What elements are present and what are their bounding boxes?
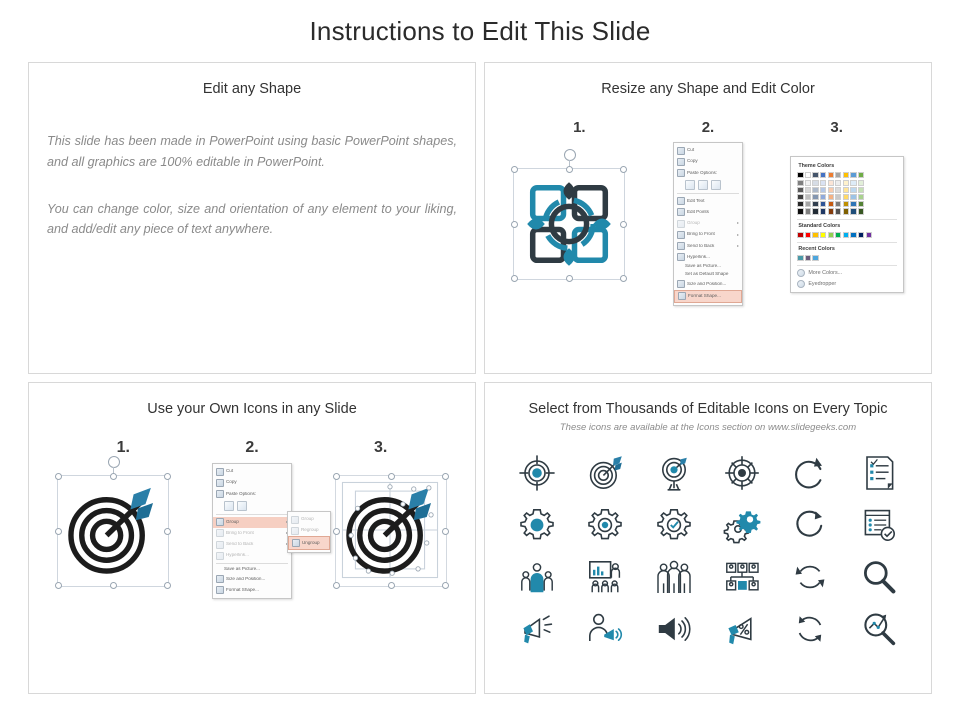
group-icon — [216, 518, 224, 526]
resize-figure-3: Theme Colors — [782, 142, 912, 306]
resize-handle-bottom-center[interactable] — [566, 275, 573, 282]
color-picker-divider — [797, 265, 897, 266]
theme-variant-swatch[interactable] — [828, 208, 834, 214]
theme-variant-swatch[interactable] — [835, 201, 841, 207]
paste-option-buttons[interactable] — [213, 500, 291, 513]
context-menu-label: Format Shape... — [688, 294, 738, 299]
icon-cell[interactable] — [640, 499, 708, 551]
edit-text-icon — [677, 197, 685, 205]
context-menu-label: Cut — [687, 148, 739, 153]
magnifier-icon — [859, 557, 899, 597]
paste-picture-icon[interactable] — [237, 501, 247, 511]
refresh-arrow-icon — [790, 453, 830, 493]
theme-swatch[interactable] — [828, 172, 834, 178]
icon-cell[interactable] — [571, 499, 639, 551]
target-stand-icon — [654, 453, 694, 493]
icon-cell[interactable] — [640, 603, 708, 655]
resize-handle-top-left[interactable] — [511, 166, 518, 173]
checklist-document-icon — [859, 453, 899, 493]
paste-merge-formatting-icon[interactable] — [698, 180, 708, 190]
theme-variant-swatch[interactable] — [850, 208, 856, 214]
shape-context-menu[interactable]: Cut Copy Paste Options: — [673, 142, 743, 306]
menu-divider — [216, 514, 288, 515]
theme-variant-column[interactable] — [843, 180, 849, 215]
size-position-icon — [216, 575, 224, 583]
resize-handle-bottom-left[interactable] — [511, 275, 518, 282]
panel-title-select-icons: Select from Thousands of Editable Icons … — [485, 383, 931, 417]
panel-own-icons: Use your Own Icons in any Slide 1. 2. 3. — [28, 382, 476, 694]
megaphone-percent-icon — [722, 609, 762, 649]
panel-resize-shape: Resize any Shape and Edit Color 1. 2. 3. — [484, 62, 932, 374]
theme-variant-swatch[interactable] — [820, 194, 826, 200]
context-menu-label: Size and Position... — [687, 282, 739, 287]
icon-cell[interactable] — [503, 551, 571, 603]
context-menu-item-set-default-shape[interactable]: Set as Default Shape — [674, 271, 742, 279]
icon-cell[interactable] — [503, 499, 571, 551]
group-menu-label: Hyperlink... — [226, 553, 288, 558]
group-menu-label: Group — [226, 520, 284, 525]
eyedropper-label: Eyedropper — [808, 281, 836, 287]
group-menu-item-format-shape[interactable]: Format Shape... — [213, 585, 291, 596]
page-title: Instructions to Edit This Slide — [0, 0, 960, 47]
magnifier-chart-icon — [859, 609, 899, 649]
size-position-icon — [677, 280, 685, 288]
standard-swatch[interactable] — [812, 232, 818, 238]
group-menu-label: Bring to Front — [226, 531, 284, 536]
theme-variant-swatch[interactable] — [858, 194, 864, 200]
group-submenu-label: Regroup — [301, 528, 327, 533]
icon-cell[interactable] — [708, 603, 776, 655]
resize-handle-bottom-center[interactable] — [388, 582, 395, 589]
theme-variant-swatch[interactable] — [835, 187, 841, 193]
icon-cell[interactable] — [571, 603, 639, 655]
scope-target-icon — [722, 453, 762, 493]
menu-divider — [216, 563, 288, 564]
icon-cell[interactable] — [708, 447, 776, 499]
shape-selection-frame[interactable] — [513, 168, 625, 280]
icon-cell[interactable] — [503, 603, 571, 655]
theme-variant-swatch[interactable] — [820, 180, 826, 186]
icon-cell[interactable] — [845, 499, 913, 551]
theme-variant-swatch[interactable] — [843, 180, 849, 186]
resize-step-numbers: 1. 2. 3. — [485, 119, 931, 136]
standard-swatch[interactable] — [828, 232, 834, 238]
theme-variant-swatch[interactable] — [812, 208, 818, 214]
theme-variant-swatch[interactable] — [843, 201, 849, 207]
speaker-icon — [654, 609, 694, 649]
paste-keep-formatting-icon[interactable] — [224, 501, 234, 511]
theme-swatch[interactable] — [797, 172, 803, 178]
context-menu-item-format-shape[interactable]: Format Shape... — [674, 290, 742, 303]
icon-cell[interactable] — [776, 499, 844, 551]
theme-variant-swatch[interactable] — [835, 208, 841, 214]
theme-variant-swatch[interactable] — [820, 187, 826, 193]
paste-icon — [216, 490, 224, 498]
icon-cell[interactable] — [571, 551, 639, 603]
resize-handle-top-right[interactable] — [620, 166, 627, 173]
icon-cell[interactable] — [571, 447, 639, 499]
resize-handle-middle-left[interactable] — [55, 528, 62, 535]
menu-divider — [677, 193, 739, 194]
icon-cell[interactable] — [776, 447, 844, 499]
org-chart-team-icon — [722, 557, 762, 597]
resize-handle-bottom-right[interactable] — [620, 275, 627, 282]
standard-swatch[interactable] — [858, 232, 864, 238]
person-megaphone-icon — [585, 609, 625, 649]
rotate-handle-icon[interactable] — [564, 149, 576, 161]
icon-cell[interactable] — [640, 551, 708, 603]
theme-variant-column[interactable] — [805, 180, 811, 215]
icon-cell[interactable] — [776, 551, 844, 603]
send-to-back-icon — [216, 541, 224, 549]
theme-variant-swatch[interactable] — [805, 201, 811, 207]
standard-swatch[interactable] — [835, 232, 841, 238]
team-three-icon — [654, 557, 694, 597]
standard-swatch[interactable] — [805, 232, 811, 238]
theme-variant-swatch[interactable] — [843, 187, 849, 193]
resize-handle-middle-right[interactable] — [164, 528, 171, 535]
theme-variant-swatch[interactable] — [850, 194, 856, 200]
panel-title-edit-shape: Edit any Shape — [29, 63, 475, 97]
own-icons-step-number-2: 2. — [202, 439, 302, 457]
double-gear-icon — [722, 505, 762, 545]
target-dart-icon — [58, 476, 166, 584]
resize-handle-middle-right[interactable] — [620, 221, 627, 228]
group-submenu-item-ungroup[interactable]: Ungroup — [288, 536, 330, 549]
standard-swatch[interactable] — [820, 232, 826, 238]
own-icons-step-numbers: 1. 2. 3. — [29, 439, 475, 457]
group-menu-item-save-as-picture[interactable]: Save as Picture... — [213, 565, 291, 573]
resize-handle-middle-right[interactable] — [442, 528, 449, 535]
theme-variant-swatch[interactable] — [828, 194, 834, 200]
cut-icon — [216, 468, 224, 476]
standard-colors-row[interactable] — [797, 232, 897, 238]
group-menu-label: Save as Picture... — [224, 567, 288, 572]
context-menu-label: Group — [687, 221, 735, 226]
theme-variant-swatch[interactable] — [858, 187, 864, 193]
theme-variant-swatch[interactable] — [858, 208, 864, 214]
icon-cell[interactable] — [503, 447, 571, 499]
rotate-handle-icon[interactable] — [108, 456, 120, 468]
eyedropper-button[interactable]: Eyedropper — [797, 280, 897, 288]
group-submenu[interactable]: Group Regroup Ungroup — [287, 511, 331, 553]
chevron-right-icon: ▸ — [737, 244, 739, 248]
theme-swatch[interactable] — [858, 172, 864, 178]
theme-variant-swatch[interactable] — [812, 194, 818, 200]
group-menu-item-cut[interactable]: Cut — [213, 466, 291, 477]
theme-variant-swatch[interactable] — [805, 187, 811, 193]
context-menu-label: Bring to Front — [687, 232, 735, 237]
group-icon — [291, 516, 299, 524]
group-menu-item-bring-to-front: Bring to Front ▸ — [213, 528, 291, 539]
resize-handle-bottom-center[interactable] — [110, 582, 117, 589]
context-menu-item-send-to-back[interactable]: Send to Back ▸ — [674, 240, 742, 251]
resize-figure-2: Cut Copy Paste Options: — [643, 142, 773, 306]
standard-swatch[interactable] — [843, 232, 849, 238]
recent-colors-row[interactable] — [797, 255, 897, 261]
theme-variant-swatch[interactable] — [797, 201, 803, 207]
theme-variant-column[interactable] — [797, 180, 803, 215]
group-menu-label: Paste Options: — [226, 492, 288, 497]
color-picker-panel[interactable]: Theme Colors — [790, 156, 904, 293]
more-colors-label: More Colors... — [808, 270, 842, 276]
theme-variant-swatch[interactable] — [828, 187, 834, 193]
theme-colors-label: Theme Colors — [798, 163, 897, 169]
theme-variant-column[interactable] — [828, 180, 834, 215]
theme-variant-swatch[interactable] — [805, 194, 811, 200]
hyperlink-icon — [677, 253, 685, 261]
group-menu-item-size-and-position[interactable]: Size and Position... — [213, 573, 291, 584]
copy-icon — [216, 479, 224, 487]
theme-variant-column[interactable] — [835, 180, 841, 215]
context-menu-label: Edit Points — [687, 210, 739, 215]
ungroup-icon — [292, 539, 300, 547]
theme-swatch[interactable] — [850, 172, 856, 178]
context-menu-item-paste-options: Paste Options: — [674, 167, 742, 178]
theme-variant-swatch[interactable] — [797, 187, 803, 193]
panel-grid: Edit any Shape This slide has been made … — [28, 62, 932, 692]
theme-variant-swatch[interactable] — [828, 201, 834, 207]
group-menu-label: Cut — [226, 469, 288, 474]
recent-swatch[interactable] — [812, 255, 818, 261]
theme-variant-swatch[interactable] — [850, 201, 856, 207]
theme-swatch[interactable] — [812, 172, 818, 178]
context-menu-item-cut[interactable]: Cut — [674, 145, 742, 156]
send-to-back-icon — [677, 242, 685, 250]
resize-handle-bottom-left[interactable] — [333, 582, 340, 589]
format-shape-icon — [216, 586, 224, 594]
copy-icon — [677, 158, 685, 166]
panel-title-resize-shape: Resize any Shape and Edit Color — [485, 63, 931, 97]
theme-colors-base-row[interactable] — [797, 172, 897, 178]
group-icon — [677, 220, 685, 228]
theme-variant-swatch[interactable] — [858, 180, 864, 186]
context-menu-item-save-as-picture[interactable]: Save as Picture... — [674, 263, 742, 271]
resize-handle-top-right[interactable] — [164, 473, 171, 480]
icon-cell[interactable] — [845, 551, 913, 603]
hyperlink-icon — [216, 552, 224, 560]
resize-handle-top-left[interactable] — [55, 473, 62, 480]
resize-figure-1 — [504, 142, 634, 306]
theme-variant-swatch[interactable] — [797, 180, 803, 186]
own-icons-step-number-1: 1. — [73, 439, 173, 457]
resize-handle-top-right[interactable] — [442, 473, 449, 480]
recent-swatch[interactable] — [805, 255, 811, 261]
resize-handle-middle-left[interactable] — [511, 221, 518, 228]
edit-shape-text-block: This slide has been made in PowerPoint u… — [29, 97, 475, 240]
group-menu-label: Size and Position... — [226, 577, 288, 582]
target-dart-icon — [585, 453, 625, 493]
pinwheel-shape-icon — [514, 169, 624, 279]
theme-variant-column[interactable] — [858, 180, 864, 215]
context-menu-label: Set as Default Shape — [685, 272, 739, 277]
theme-variant-swatch[interactable] — [812, 201, 818, 207]
resize-handle-bottom-right[interactable] — [164, 582, 171, 589]
panel-select-icons: Select from Thousands of Editable Icons … — [484, 382, 932, 694]
theme-variant-swatch[interactable] — [843, 194, 849, 200]
icon-library-grid — [485, 433, 931, 665]
chevron-right-icon: ▸ — [737, 233, 739, 237]
bring-to-front-icon — [677, 231, 685, 239]
circular-arrow-icon — [790, 505, 830, 545]
theme-variant-swatch[interactable] — [835, 180, 841, 186]
group-menu-label: Format Shape... — [226, 588, 288, 593]
paste-icon — [677, 169, 685, 177]
theme-variant-swatch[interactable] — [820, 201, 826, 207]
group-submenu-item-regroup: Regroup — [288, 525, 330, 536]
theme-swatch[interactable] — [843, 172, 849, 178]
recent-swatch[interactable] — [797, 255, 803, 261]
theme-variant-swatch[interactable] — [805, 208, 811, 214]
context-menu-label: Edit Text — [687, 199, 739, 204]
theme-variant-column[interactable] — [850, 180, 856, 215]
standard-colors-label: Standard Colors — [798, 223, 897, 229]
context-menu-item-edit-points[interactable]: Edit Points — [674, 207, 742, 218]
theme-colors-variant-grid[interactable] — [797, 180, 897, 215]
chevron-right-icon: ▸ — [737, 221, 739, 225]
format-shape-icon — [678, 292, 686, 300]
own-icons-step-figures: Cut Copy Paste Options: — [29, 463, 475, 599]
resize-step-number-3: 3. — [787, 119, 887, 136]
gear-small-center-icon — [585, 505, 625, 545]
bring-to-front-icon — [216, 529, 224, 537]
more-colors-button[interactable]: More Colors... — [797, 269, 897, 277]
theme-variant-swatch[interactable] — [850, 180, 856, 186]
theme-variant-column[interactable] — [812, 180, 818, 215]
eyedropper-icon — [797, 280, 805, 288]
theme-variant-swatch[interactable] — [812, 180, 818, 186]
resize-handle-bottom-right[interactable] — [442, 582, 449, 589]
context-menu-label: Copy — [687, 159, 739, 164]
resize-step-number-2: 2. — [658, 119, 758, 136]
group-menu-item-paste-options: Paste Options: — [213, 488, 291, 499]
icon-cell[interactable] — [708, 499, 776, 551]
theme-swatch[interactable] — [805, 172, 811, 178]
theme-variant-column[interactable] — [820, 180, 826, 215]
gear-filled-icon — [517, 505, 557, 545]
group-menu-label: Copy — [226, 480, 288, 485]
context-menu-item-bring-to-front[interactable]: Bring to Front ▸ — [674, 229, 742, 240]
own-icons-step-number-3: 3. — [331, 439, 431, 457]
theme-variant-swatch[interactable] — [843, 208, 849, 214]
paste-keep-formatting-icon[interactable] — [685, 180, 695, 190]
theme-variant-swatch[interactable] — [797, 194, 803, 200]
group-context-menu[interactable]: Cut Copy Paste Options: — [212, 463, 292, 599]
icon-cell[interactable] — [708, 551, 776, 603]
palette-icon — [797, 269, 805, 277]
theme-swatch[interactable] — [820, 172, 826, 178]
context-menu-item-hyperlink[interactable]: Hyperlink... — [674, 252, 742, 263]
panel-subtitle-select-icons: These icons are available at the Icons s… — [485, 417, 931, 433]
paste-picture-icon[interactable] — [711, 180, 721, 190]
group-menu-item-copy[interactable]: Copy — [213, 477, 291, 488]
theme-swatch[interactable] — [835, 172, 841, 178]
context-menu-label: Hyperlink... — [687, 255, 739, 260]
color-picker-divider — [797, 242, 897, 243]
theme-variant-swatch[interactable] — [820, 208, 826, 214]
icon-cell[interactable] — [845, 603, 913, 655]
context-menu-label: Save as Picture... — [685, 264, 739, 269]
theme-variant-swatch[interactable] — [858, 201, 864, 207]
group-submenu-item-group: Group — [288, 514, 330, 525]
edit-points-icon — [677, 208, 685, 216]
icon-cell[interactable] — [845, 447, 913, 499]
theme-variant-swatch[interactable] — [828, 180, 834, 186]
cut-icon — [677, 147, 685, 155]
group-submenu-label: Group — [301, 517, 327, 522]
standard-swatch[interactable] — [850, 232, 856, 238]
own-icons-figure-2: Cut Copy Paste Options: — [187, 463, 317, 599]
paste-option-buttons[interactable] — [674, 179, 742, 192]
megaphone-icon — [517, 609, 557, 649]
resize-handle-top-center[interactable] — [566, 166, 573, 173]
color-picker-divider — [797, 219, 897, 220]
context-menu-item-size-and-position[interactable]: Size and Position... — [674, 279, 742, 290]
theme-variant-swatch[interactable] — [850, 187, 856, 193]
context-menu-item-copy[interactable]: Copy — [674, 156, 742, 167]
own-icons-figure-1 — [48, 463, 178, 599]
presentation-meeting-icon — [585, 557, 625, 597]
circular-arrows-icon — [790, 609, 830, 649]
group-menu-item-hyperlink: Hyperlink... — [213, 550, 291, 561]
target-selection-frame-ungrouped[interactable] — [335, 475, 447, 587]
group-submenu-label: Ungroup — [302, 541, 326, 546]
resize-handle-top-center[interactable] — [110, 473, 117, 480]
resize-step-figures: Cut Copy Paste Options: — [485, 142, 931, 306]
document-check-icon — [859, 505, 899, 545]
edit-shape-paragraph-1: This slide has been made in PowerPoint u… — [47, 131, 457, 173]
regroup-icon — [291, 527, 299, 535]
slide-canvas: Instructions to Edit This Slide Edit any… — [0, 0, 960, 720]
standard-swatch[interactable] — [797, 232, 803, 238]
icon-cell[interactable] — [640, 447, 708, 499]
standard-swatch[interactable] — [866, 232, 872, 238]
group-menu-item-group[interactable]: Group ▸ — [213, 517, 291, 528]
theme-variant-swatch[interactable] — [797, 208, 803, 214]
context-menu-item-edit-text[interactable]: Edit Text — [674, 196, 742, 207]
people-group-icon — [517, 557, 557, 597]
context-menu-label: Paste Options: — [687, 171, 739, 176]
context-menu-label: Send to Back — [687, 244, 735, 249]
theme-variant-swatch[interactable] — [812, 187, 818, 193]
icon-cell[interactable] — [776, 603, 844, 655]
panel-edit-any-shape: Edit any Shape This slide has been made … — [28, 62, 476, 374]
sync-arrows-icon — [790, 557, 830, 597]
gear-check-icon — [654, 505, 694, 545]
theme-variant-swatch[interactable] — [805, 180, 811, 186]
context-menu-item-group[interactable]: Group ▸ — [674, 218, 742, 229]
target-dart-ungrouped-icon — [336, 476, 444, 584]
group-menu-item-send-to-back: Send to Back ▸ — [213, 539, 291, 550]
theme-variant-swatch[interactable] — [835, 194, 841, 200]
crosshair-target-icon — [517, 453, 557, 493]
resize-handle-bottom-left[interactable] — [55, 582, 62, 589]
panel-title-own-icons: Use your Own Icons in any Slide — [29, 383, 475, 417]
resize-step-number-1: 1. — [529, 119, 629, 136]
own-icons-figure-3 — [326, 463, 456, 599]
target-selection-frame-grouped[interactable] — [57, 475, 169, 587]
recent-colors-label: Recent Colors — [798, 246, 897, 252]
edit-shape-paragraph-2: You can change color, size and orientati… — [47, 199, 457, 241]
group-menu-label: Send to Back — [226, 542, 284, 547]
